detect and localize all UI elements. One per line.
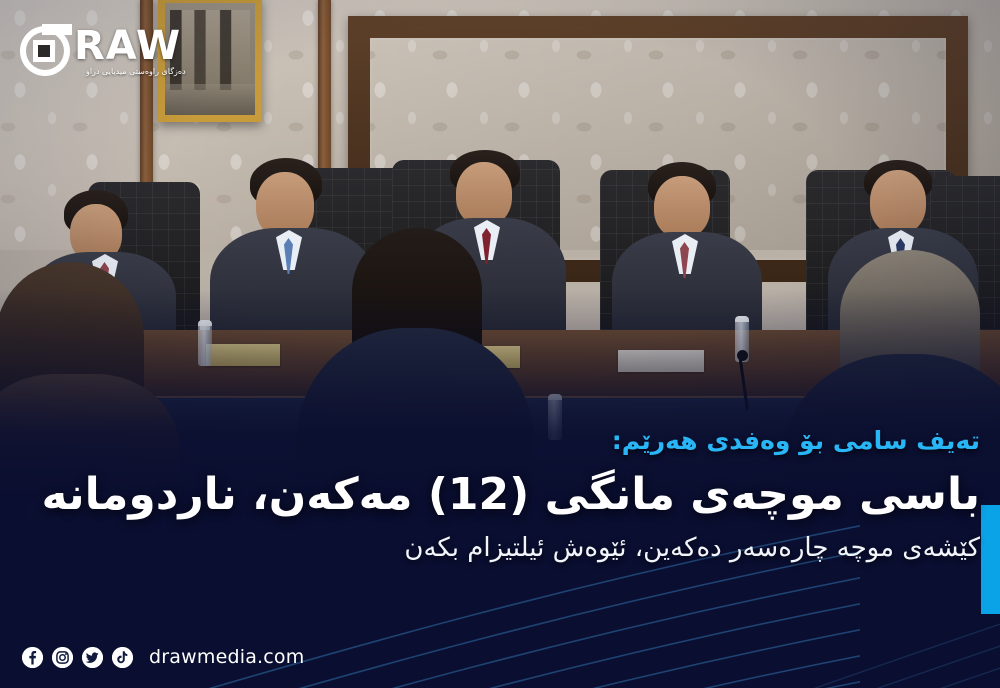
d-circle-logo-icon — [18, 24, 72, 78]
main-headline: باسی موچەی مانگی (12) مەکەن، ناردومانە — [20, 466, 980, 524]
logo-wordmark: RAW — [74, 26, 181, 66]
accent-bar — [981, 505, 1000, 614]
twitter-icon[interactable] — [82, 647, 103, 668]
sub-headline: کێشەی موچە چارەسەر دەکەین، ئێوەش ئیلتیزا… — [20, 530, 980, 566]
facebook-icon[interactable] — [22, 647, 43, 668]
logo-tagline: دەزگای راوەستی میدیایی دراو — [86, 67, 186, 76]
brand-logo[interactable]: RAW دەزگای راوەستی میدیایی دراو — [18, 22, 218, 80]
headline-block: تەیف سامی بۆ وەفدی هەرێم: باسی موچەی مان… — [20, 424, 980, 566]
instagram-icon[interactable] — [52, 647, 73, 668]
news-graphic-card: RAW دەزگای راوەستی میدیایی دراو تەیف سام… — [0, 0, 1000, 688]
tiktok-icon[interactable] — [112, 647, 133, 668]
website-url[interactable]: drawmedia.com — [149, 646, 304, 668]
photo-dark-gradient — [0, 0, 1000, 688]
kicker-text: تەیف سامی بۆ وەفدی هەرێم: — [20, 424, 980, 458]
footer-bar: drawmedia.com — [22, 642, 304, 672]
